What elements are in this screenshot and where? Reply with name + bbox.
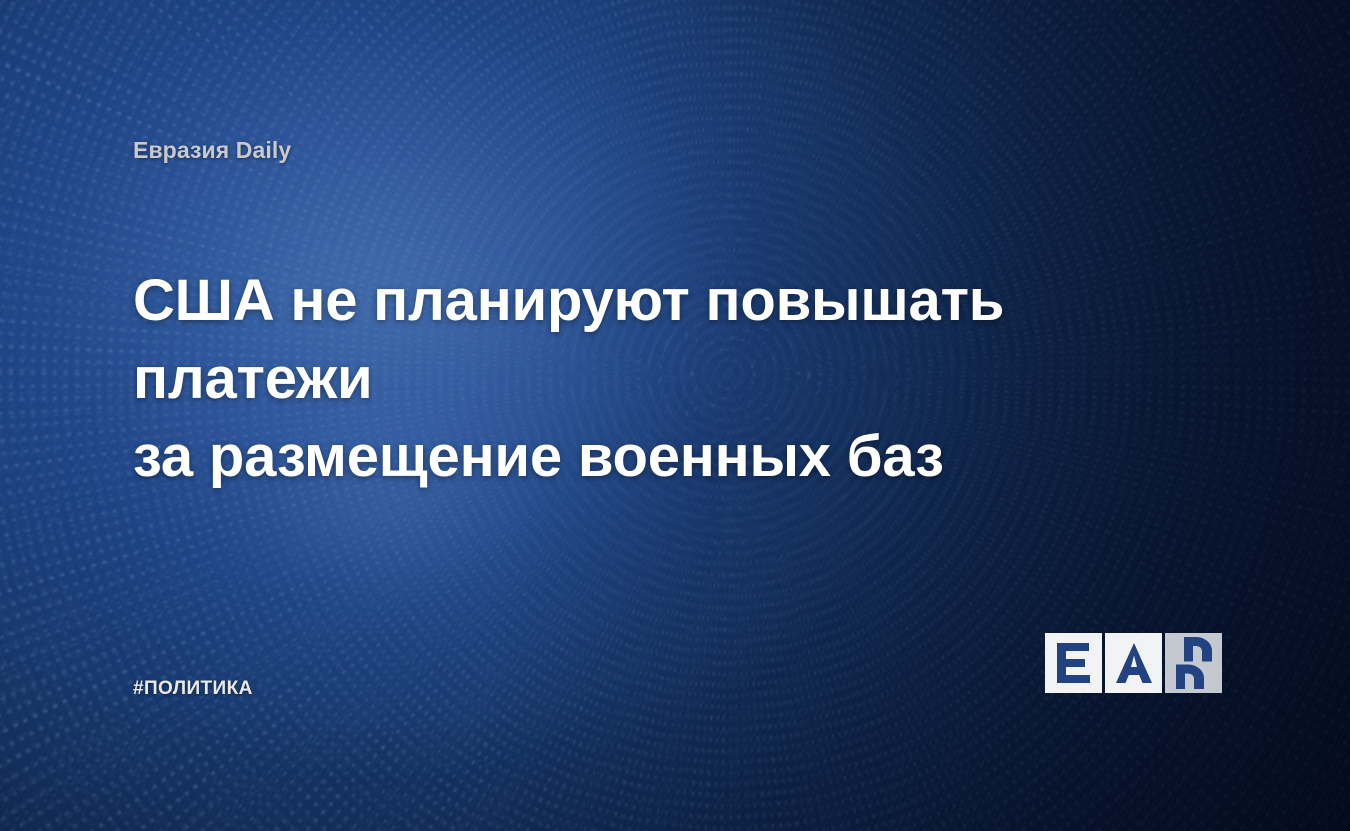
brand-title: Евразия Daily	[133, 137, 291, 164]
eadaily-logo[interactable]	[1045, 633, 1223, 693]
logo-letter-a-icon	[1114, 641, 1154, 685]
headline-line-2: за размещение военных баз	[133, 424, 944, 489]
logo-letter-d-split-icon	[1172, 638, 1216, 688]
logo-tile-a	[1105, 633, 1162, 693]
card-content: Евразия Daily США не планируют повышать …	[0, 0, 1350, 831]
logo-tile-d	[1165, 633, 1222, 693]
rubric-tag-politics[interactable]: #ПОЛИТИКА	[133, 678, 253, 700]
news-card: Евразия Daily США не планируют повышать …	[0, 0, 1350, 831]
headline-line-1: США не планируют повышать платежи	[133, 268, 1004, 411]
logo-letter-e-icon	[1055, 641, 1093, 685]
logo-tile-e	[1045, 633, 1102, 693]
headline: США не планируют повышать платежи за раз…	[133, 262, 1223, 496]
